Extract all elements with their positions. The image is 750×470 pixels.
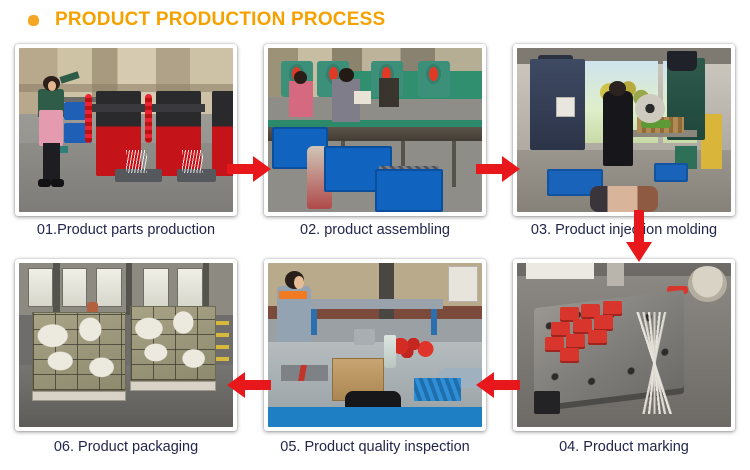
process-step-02[interactable]: 02. product assembling bbox=[251, 38, 499, 250]
step-05-photo bbox=[268, 263, 482, 427]
step-02-caption: 02. product assembling bbox=[251, 222, 499, 238]
step-01-photo bbox=[19, 48, 233, 212]
step-02-photo bbox=[268, 48, 482, 212]
step-02-photo-frame[interactable] bbox=[264, 44, 486, 216]
step-06-photo bbox=[19, 263, 233, 427]
step-06-photo-frame[interactable] bbox=[15, 259, 237, 431]
step-04-photo bbox=[517, 263, 731, 427]
page-header: PRODUCT PRODUCTION PROCESS bbox=[0, 0, 750, 40]
arrow-step3-to-step4-icon bbox=[626, 210, 652, 262]
step-05-photo-frame[interactable] bbox=[264, 259, 486, 431]
arrow-step4-to-step5-icon bbox=[476, 372, 520, 398]
step-03-caption: 03. Product injection molding bbox=[500, 222, 748, 238]
arrow-step2-to-step3-icon bbox=[476, 156, 520, 182]
step-04-caption: 04. Product marking bbox=[500, 439, 748, 455]
step-01-photo-frame[interactable] bbox=[15, 44, 237, 216]
process-step-04[interactable]: 04. Product marking bbox=[500, 253, 748, 470]
step-05-caption: 05. Product quality inspection bbox=[251, 439, 499, 455]
arrow-step1-to-step2-icon bbox=[227, 156, 271, 182]
step-06-caption: 06. Product packaging bbox=[2, 439, 250, 455]
process-step-grid: 01.Product parts production bbox=[0, 38, 750, 470]
step-03-photo bbox=[517, 48, 731, 212]
arrow-step5-to-step6-icon bbox=[227, 372, 271, 398]
product-production-process-page: PRODUCT PRODUCTION PROCESS bbox=[0, 0, 750, 470]
process-step-05[interactable]: 05. Product quality inspection bbox=[251, 253, 499, 470]
step-04-photo-frame[interactable] bbox=[513, 259, 735, 431]
process-step-03[interactable]: 03. Product injection molding bbox=[500, 38, 748, 250]
diamond-bullet-icon bbox=[28, 15, 39, 26]
page-title: PRODUCT PRODUCTION PROCESS bbox=[55, 9, 385, 31]
step-01-caption: 01.Product parts production bbox=[2, 222, 250, 238]
process-step-01[interactable]: 01.Product parts production bbox=[2, 38, 250, 250]
process-step-06[interactable]: 06. Product packaging bbox=[2, 253, 250, 470]
step-03-photo-frame[interactable] bbox=[513, 44, 735, 216]
